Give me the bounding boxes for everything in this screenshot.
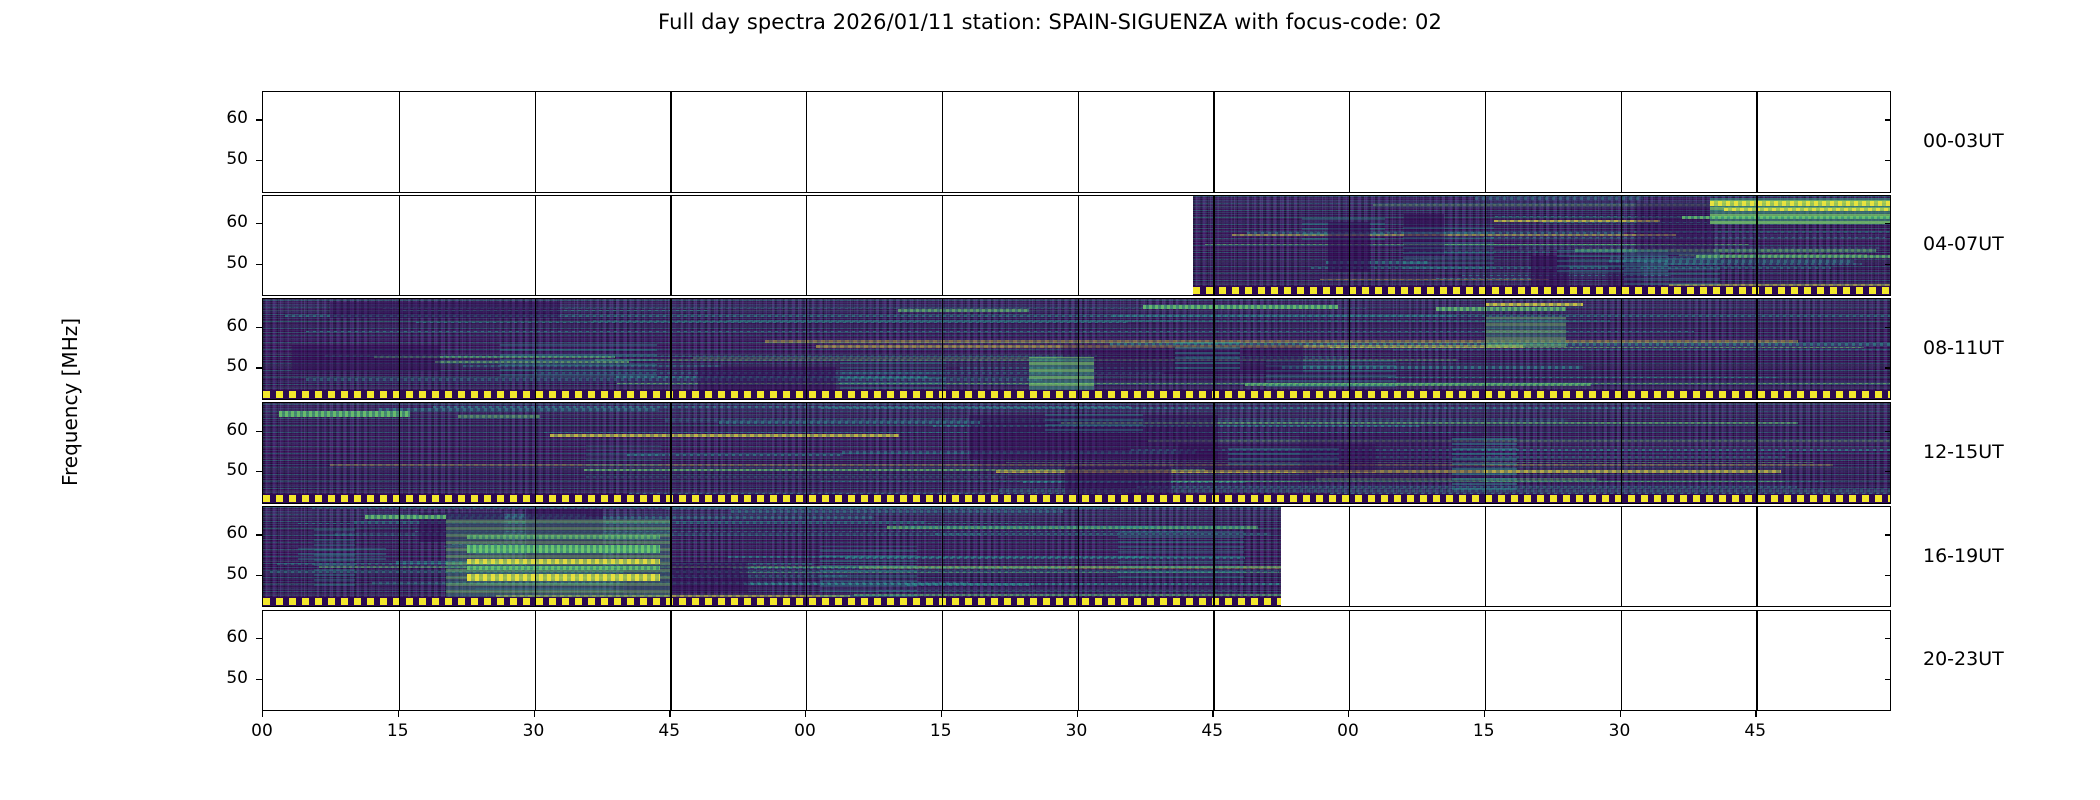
time-division-line [399,507,400,607]
time-division-line [1485,403,1486,503]
row-time-label-04-07ut: 04-07UT [1923,233,2004,255]
y-axis-tick-right [1885,327,1891,328]
spectral-feature [1403,224,1494,270]
time-division-line [399,196,400,296]
y-axis-tick-label: 60 [192,212,248,232]
emission-band [1485,303,1583,306]
time-division-line [535,299,536,399]
y-axis-tick-label: 60 [192,523,248,543]
time-division-line [1756,507,1757,607]
y-axis-tick [256,223,262,224]
time-division-line [1485,299,1486,399]
y-axis-tick-right [1885,160,1891,161]
time-division-line [1078,611,1079,711]
x-axis-tick [805,711,806,717]
emission-band [821,407,1651,409]
x-axis-tick-label: 00 [775,721,835,741]
time-division-line [1213,507,1214,607]
time-division-line [1756,92,1757,192]
emission-band [854,594,1282,596]
time-division-line [1078,507,1079,607]
x-axis-tick [1620,711,1621,717]
time-division-line [1349,299,1350,399]
emission-band [1436,307,1566,311]
y-axis-tick-label: 50 [192,253,248,273]
time-division-line [670,403,671,503]
x-axis-tick [534,711,535,717]
time-division-line [806,611,807,711]
y-axis-tick-right [1885,638,1891,639]
time-division-line [535,507,536,607]
emission-band [467,545,660,553]
emission-band [467,559,660,564]
time-division-line [942,196,943,296]
time-division-line [670,611,671,711]
y-axis-tick [256,575,262,576]
time-division-line [942,299,943,399]
y-axis-tick-label: 50 [192,564,248,584]
spectral-feature [1118,526,1243,577]
spectrogram-panel-04-07ut[interactable] [262,195,1891,297]
saturation-marker-strip [1193,286,1891,295]
emission-band [1148,440,1891,442]
row-time-label-20-23ut: 20-23UT [1923,648,2004,670]
y-axis-tick-label: 50 [192,149,248,169]
y-axis-tick [256,119,262,120]
time-division-line [1621,611,1622,711]
x-axis-tick-label: 45 [639,721,699,741]
time-division-line [1349,403,1350,503]
x-axis-tick-label: 15 [1454,721,1514,741]
emission-band [1113,315,1456,317]
time-division-line [942,403,943,503]
time-division-line [1349,507,1350,607]
time-division-line [1621,507,1622,607]
time-division-line [670,92,671,192]
spectral-feature [1485,317,1566,347]
x-axis-tick-label: 00 [1318,721,1378,741]
spectrogram-data [1193,196,1891,296]
spectral-feature [1045,413,1143,431]
x-axis-tick-label: 45 [1182,721,1242,741]
emission-band [666,507,1281,510]
emission-band [1682,216,1891,219]
y-axis-tick-right [1885,264,1891,265]
spectral-feature [330,302,561,318]
emission-band [1393,349,1891,351]
emission-band [1320,279,1549,280]
time-division-line [1485,611,1486,711]
emission-band [719,421,980,424]
emission-band [1475,197,1642,200]
spectral-feature [586,445,661,466]
spectral-feature [500,344,658,376]
x-axis-tick-label: 30 [1047,721,1107,741]
y-axis-tick-right [1885,575,1891,576]
x-axis-tick [1077,711,1078,717]
time-division-line [1621,403,1622,503]
spectral-feature [314,527,355,587]
time-division-line [942,507,943,607]
row-time-label-16-19ut: 16-19UT [1923,545,2004,567]
time-division-line [1078,299,1079,399]
x-axis-tick [1484,711,1485,717]
row-time-label-00-03ut: 00-03UT [1923,130,2004,152]
time-division-line [1078,92,1079,192]
spectrogram-figure: Full day spectra 2026/01/11 station: SPA… [0,0,2100,800]
x-axis-tick [1348,711,1349,717]
time-division-line [399,92,400,192]
time-division-line [1349,611,1350,711]
emission-band [693,357,1057,359]
spectrogram-data [263,507,1281,607]
time-division-line [1756,196,1757,296]
time-division-line [1349,92,1350,192]
time-division-line [806,92,807,192]
time-division-line [670,299,671,399]
time-division-line [1213,403,1214,503]
spectral-feature [1029,357,1094,393]
time-division-line [670,196,671,296]
y-axis-tick [256,534,262,535]
emission-band [593,320,1610,322]
time-division-line [1621,196,1622,296]
time-division-line [1213,299,1214,399]
y-axis-tick-label: 50 [192,356,248,376]
time-division-line [1078,196,1079,296]
time-division-line [942,611,943,711]
time-division-line [1756,611,1757,711]
time-division-line [1213,611,1214,711]
time-division-line [399,403,400,503]
time-division-line [1756,403,1757,503]
y-axis-tick [256,160,262,161]
y-axis-tick-label: 50 [192,668,248,688]
emission-band [731,510,1063,513]
time-division-line [399,299,400,399]
row-time-label-08-11ut: 08-11UT [1923,337,2004,359]
emission-band [898,309,1028,312]
emission-band [550,434,899,437]
y-axis-tick-label: 60 [192,420,248,440]
emission-band [365,515,446,519]
y-axis-tick-right [1885,534,1891,535]
time-division-line [1078,403,1079,503]
emission-band [467,574,660,581]
x-axis-tick [941,711,942,717]
x-axis-tick [1212,711,1213,717]
time-division-line [399,611,400,711]
emission-band [1710,201,1891,206]
y-axis-tick [256,367,262,368]
x-axis-tick [398,711,399,717]
y-axis-tick [256,638,262,639]
emission-band [907,583,1030,586]
x-axis-tick [1755,711,1756,717]
y-axis-tick-right [1885,367,1891,368]
emission-band [416,322,1128,323]
spectral-feature [979,460,1181,472]
time-division-line [535,403,536,503]
x-axis-tick-label: 30 [1590,721,1650,741]
saturation-marker-strip [263,597,1281,606]
spectral-feature [1636,203,1714,255]
y-axis-tick [256,327,262,328]
x-axis-tick [262,711,263,717]
time-division-line [942,92,943,192]
x-axis-tick [669,711,670,717]
y-axis-tick [256,679,262,680]
emission-band [1388,377,1779,378]
spectrogram-panel-12-15ut[interactable] [262,402,1891,504]
spectrogram-panel-00-03ut[interactable] [262,91,1891,193]
spectrogram-panel-20-23ut[interactable] [262,610,1891,712]
emission-band [458,415,539,418]
y-axis-tick-right [1885,223,1891,224]
time-division-line [1213,196,1214,296]
row-time-label-12-15ut: 12-15UT [1923,441,2004,463]
y-axis-tick-label: 50 [192,460,248,480]
y-axis-tick-right [1885,471,1891,472]
emission-band [467,535,660,539]
time-division-line [806,507,807,607]
emission-band [467,566,660,570]
time-division-line [1485,507,1486,607]
emission-band [586,476,1007,478]
time-division-line [1756,299,1757,399]
time-division-line [535,92,536,192]
spectrogram-panel-08-11ut[interactable] [262,298,1891,400]
y-axis-tick [256,431,262,432]
y-axis-tick-label: 60 [192,627,248,647]
x-axis-tick-label: 45 [1725,721,1785,741]
x-axis-tick-label: 30 [504,721,564,741]
x-axis-tick-label: 15 [368,721,428,741]
emission-band [279,411,409,417]
time-division-line [670,507,671,607]
emission-band [1724,208,1891,211]
spectral-feature [1557,250,1669,272]
time-division-line [1485,196,1486,296]
time-division-line [535,611,536,711]
time-division-line [806,403,807,503]
emission-band [728,556,1146,558]
spectral-feature [1175,339,1240,369]
emission-band [1143,305,1338,309]
y-axis-tick-label: 60 [192,316,248,336]
time-division-line [1621,299,1622,399]
time-division-line [1349,196,1350,296]
figure-title: Full day spectra 2026/01/11 station: SPA… [0,10,2100,34]
emission-band [1696,255,1891,258]
time-division-line [1621,92,1622,192]
y-axis-tick-right [1885,431,1891,432]
emission-band [879,590,1237,591]
y-axis-label: Frequency [MHz] [58,272,82,532]
y-axis-tick [256,471,262,472]
time-division-line [1213,92,1214,192]
emission-band [379,408,659,411]
y-axis-tick-label: 60 [192,108,248,128]
time-division-line [806,196,807,296]
x-axis-tick-label: 00 [232,721,292,741]
spectral-feature [292,345,440,371]
y-axis-tick [256,264,262,265]
spectral-feature [820,546,917,602]
x-axis-tick-label: 15 [911,721,971,741]
time-division-line [806,299,807,399]
time-division-line [1485,92,1486,192]
y-axis-tick-right [1885,119,1891,120]
time-division-line [535,196,536,296]
y-axis-tick-right [1885,679,1891,680]
spectrogram-panel-16-19ut[interactable] [262,506,1891,608]
